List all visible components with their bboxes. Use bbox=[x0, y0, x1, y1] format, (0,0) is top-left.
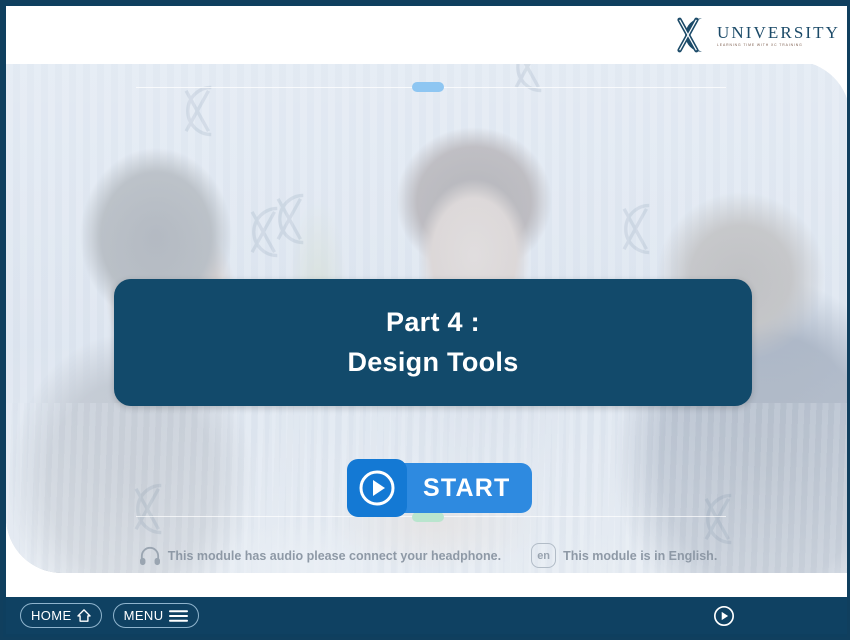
logo-text-block: UNIVERSITY LEARNING TIME WITH XC TRAININ… bbox=[717, 24, 840, 47]
player-footer: HOME MENU bbox=[6, 597, 850, 634]
xc-watermark-icon bbox=[614, 201, 670, 257]
top-progress-pill bbox=[412, 82, 444, 92]
slide-title-line-2: Design Tools bbox=[347, 343, 518, 383]
home-button[interactable]: HOME bbox=[20, 603, 102, 628]
audio-notice-text: This module has audio please connect you… bbox=[168, 549, 501, 563]
slide-title-line-1: Part 4 : bbox=[386, 303, 480, 343]
hamburger-icon bbox=[169, 609, 188, 623]
start-button-icon-box[interactable] bbox=[347, 459, 407, 517]
audio-notice: This module has audio please connect you… bbox=[139, 546, 501, 566]
course-player: Part 4 : Design Tools START bbox=[0, 0, 850, 640]
start-button-label: START bbox=[423, 474, 510, 503]
xc-monogram-icon bbox=[674, 15, 714, 55]
start-button[interactable]: START bbox=[347, 459, 532, 517]
play-circle-icon bbox=[357, 468, 397, 508]
slide-title-card: Part 4 : Design Tools bbox=[114, 279, 752, 406]
slide-header: UNIVERSITY LEARNING TIME WITH XC TRAININ… bbox=[6, 6, 850, 64]
logo-tagline: LEARNING TIME WITH XC TRAINING bbox=[717, 43, 840, 47]
slide-background: Part 4 : Design Tools START bbox=[6, 61, 850, 573]
start-button-label-box[interactable]: START bbox=[393, 463, 532, 513]
xc-watermark-icon bbox=[696, 491, 752, 547]
xc-watermark-icon bbox=[506, 61, 562, 95]
xc-watermark-icon bbox=[126, 481, 182, 537]
logo-wordmark: UNIVERSITY bbox=[717, 24, 840, 41]
headphones-icon bbox=[139, 546, 161, 566]
home-icon bbox=[77, 609, 91, 622]
xc-watermark-icon bbox=[242, 204, 298, 260]
language-notice-text: This module is in English. bbox=[563, 549, 717, 563]
play-pause-button[interactable] bbox=[713, 605, 735, 627]
university-logo: UNIVERSITY LEARNING TIME WITH XC TRAININ… bbox=[674, 15, 840, 55]
play-circle-icon bbox=[713, 605, 735, 627]
slide-stage: Part 4 : Design Tools START bbox=[6, 6, 850, 603]
language-notice: en This module is in English. bbox=[531, 543, 717, 568]
language-badge-icon: en bbox=[531, 543, 556, 568]
home-button-label: HOME bbox=[31, 608, 72, 623]
menu-button-label: MENU bbox=[124, 608, 164, 623]
slide-notices: This module has audio please connect you… bbox=[6, 543, 850, 568]
menu-button[interactable]: MENU bbox=[113, 603, 199, 628]
xc-watermark-icon bbox=[176, 83, 232, 139]
